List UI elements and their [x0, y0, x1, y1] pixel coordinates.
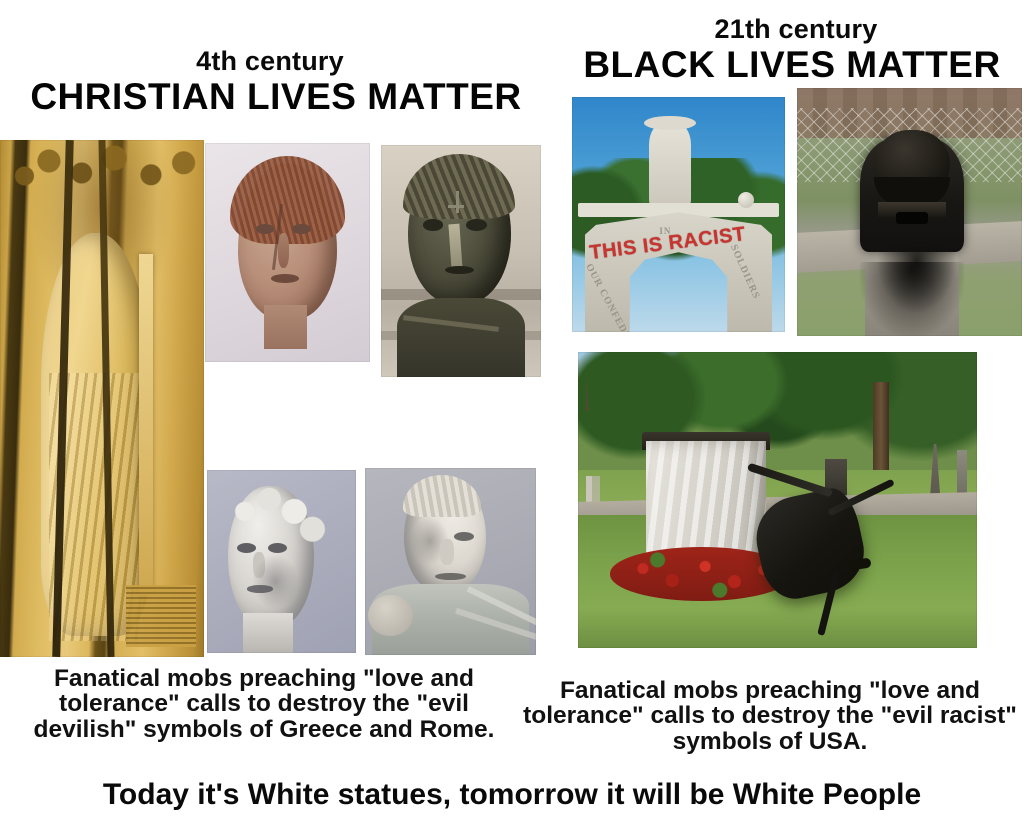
right-eye: [466, 219, 487, 231]
right-eye: [292, 224, 310, 234]
mouth: [435, 573, 466, 580]
meme-canvas: 4th century CHRISTIAN LIVES MATTER 21th …: [0, 0, 1024, 832]
soot-stain: [860, 262, 964, 336]
bare-branch: [586, 364, 706, 411]
tree-trunk: [873, 382, 889, 483]
right-century-label: 21th century: [566, 14, 1024, 45]
remaining-eye: [454, 532, 475, 541]
ivory-torch-staff: [139, 254, 153, 595]
ivory-altar-base: [126, 585, 195, 647]
neck: [243, 613, 294, 653]
left-caption: Fanatical mobs preaching "love and toler…: [8, 666, 520, 742]
right-headline: BLACK LIVES MATTER: [560, 44, 1024, 86]
right-caption: Fanatical mobs preaching "love and toler…: [516, 678, 1024, 754]
lincoln-bow-tie: [896, 212, 928, 224]
forehead-cross-horizontal-icon: [448, 205, 464, 208]
tagline: Today it's White statues, tomorrow it wi…: [0, 778, 1024, 812]
image-bronze-bust-cross-forehead: [381, 145, 541, 377]
image-marble-head-curls-defaced: [207, 470, 356, 653]
left-headline: CHRISTIAN LIVES MATTER: [0, 76, 552, 118]
image-greek-marble-head-broken-nose: [205, 143, 370, 362]
shoulder: [368, 595, 412, 636]
left-eye: [256, 224, 274, 234]
soldier-hat: [644, 116, 695, 130]
neck-stump: [264, 305, 307, 349]
soldier-statue: [649, 121, 692, 210]
forehead-cross-vertical-icon: [456, 191, 459, 213]
broken-nose: [278, 233, 290, 268]
left-eye: [423, 219, 444, 231]
armoured-torso: [397, 298, 525, 377]
image-lincoln-bust-burned: [797, 88, 1022, 336]
image-ivory-relief-defaced: [0, 140, 204, 657]
image-marble-bust-cuirass-defaced: [365, 468, 536, 655]
image-toppled-statue-cemetery: [578, 352, 977, 648]
face-damage-stain: [252, 554, 300, 609]
image-confederate-arch-graffiti: IN OUR CONFEDERATE SOLDIERS THIS IS RACI…: [572, 97, 785, 332]
nose: [440, 539, 454, 565]
mouth: [445, 266, 474, 274]
left-century-label: 4th century: [0, 46, 540, 77]
